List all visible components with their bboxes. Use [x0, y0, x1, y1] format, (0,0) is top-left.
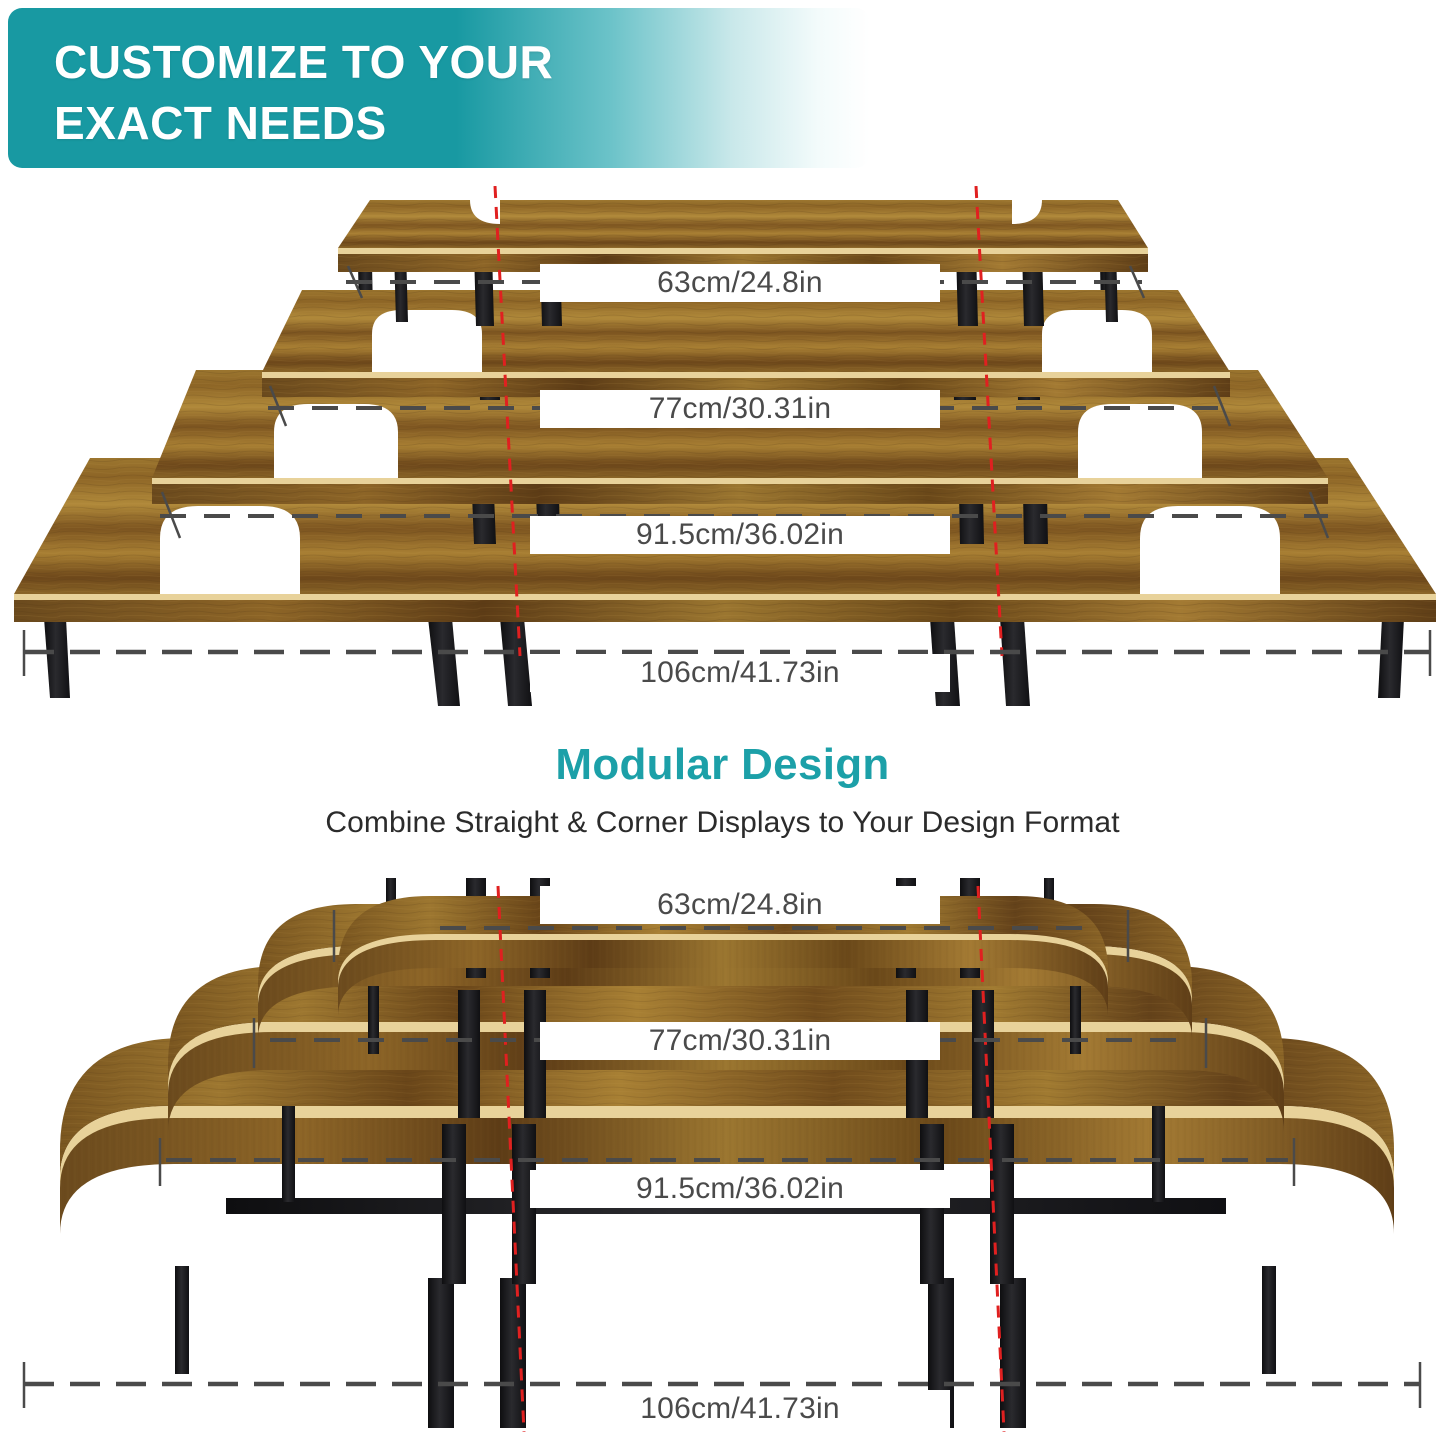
leg	[44, 618, 70, 698]
dim-label-straight-tier-1: 63cm/24.8in	[540, 264, 940, 302]
shelf-cutout	[160, 506, 300, 594]
dim-label-corner-tier-1: 63cm/24.8in	[540, 886, 940, 924]
leg	[500, 618, 532, 706]
shelf-cutout	[1042, 310, 1152, 372]
dim-label-straight-tier-3: 91.5cm/36.02in	[530, 516, 950, 554]
modular-design-title: Modular Design	[0, 740, 1445, 790]
leg	[428, 618, 460, 706]
dim-label-straight-tier-4: 106cm/41.73in	[530, 654, 950, 692]
leg	[1000, 618, 1030, 706]
dim-label-corner-tier-2: 77cm/30.31in	[540, 1022, 940, 1060]
header-banner: CUSTOMIZE TO YOUR EXACT NEEDS	[8, 8, 870, 168]
shelf-cutout	[372, 310, 482, 372]
banner-headline-line1: CUSTOMIZE TO YOUR	[54, 32, 754, 93]
leg	[1378, 618, 1404, 698]
dim-label-corner-tier-3: 91.5cm/36.02in	[530, 1170, 950, 1208]
straight-display-diagram: 63cm/24.8in 77cm/30.31in 91.5cm/36.02in …	[0, 186, 1445, 706]
corner-display-overlay	[0, 878, 1445, 1432]
dim-label-corner-tier-4: 106cm/41.73in	[530, 1390, 950, 1428]
banner-headline: CUSTOMIZE TO YOUR EXACT NEEDS	[54, 32, 754, 153]
shelf-cutout	[1078, 404, 1202, 478]
corner-display-diagram: 63cm/24.8in 77cm/30.31in 91.5cm/36.02in …	[0, 878, 1445, 1432]
shelf-cutout	[274, 404, 398, 478]
dim-label-straight-tier-2: 77cm/30.31in	[540, 390, 940, 428]
banner-headline-line2: EXACT NEEDS	[54, 93, 754, 154]
modular-design-subtitle: Combine Straight & Corner Displays to Yo…	[0, 806, 1445, 840]
shelf-cutout	[1140, 506, 1280, 594]
dimension-lines	[24, 910, 1420, 1408]
